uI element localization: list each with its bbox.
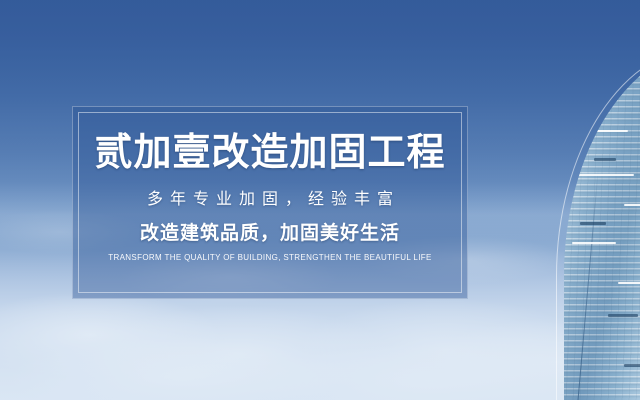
skyscraper-highlight-stripe [618,282,640,284]
skyscraper-body [564,46,640,400]
skyscraper-shadow-stripe [580,222,606,225]
page-title: 贰加壹改造加固工程 [94,134,445,172]
skyscraper-highlight-stripe [624,204,640,206]
skyscraper [556,0,640,400]
skyscraper-highlight-stripe [578,174,634,176]
skyscraper-highlight-stripe [588,130,628,132]
banner-image: 贰加壹改造加固工程 多年专业加固，经验丰富 改造建筑品质，加固美好生活 TRAN… [0,0,640,400]
headline-panel: 贰加壹改造加固工程 多年专业加固，经验丰富 改造建筑品质，加固美好生活 TRAN… [72,106,468,299]
skyscraper-shadow-stripe [608,314,638,317]
panel-slogan: 改造建筑品质，加固美好生活 [140,224,400,243]
skyscraper-shadow-stripe [624,364,640,367]
panel-subtitle: 多年专业加固，经验丰富 [140,192,400,208]
skyscraper-shadow-stripe [594,158,616,161]
panel-content: 贰加壹改造加固工程 多年专业加固，经验丰富 改造建筑品质，加固美好生活 TRAN… [73,107,467,298]
panel-slogan-english: TRANSFORM THE QUALITY OF BUILDING, STREN… [108,254,431,262]
skyscraper-highlight-stripe [572,242,616,244]
